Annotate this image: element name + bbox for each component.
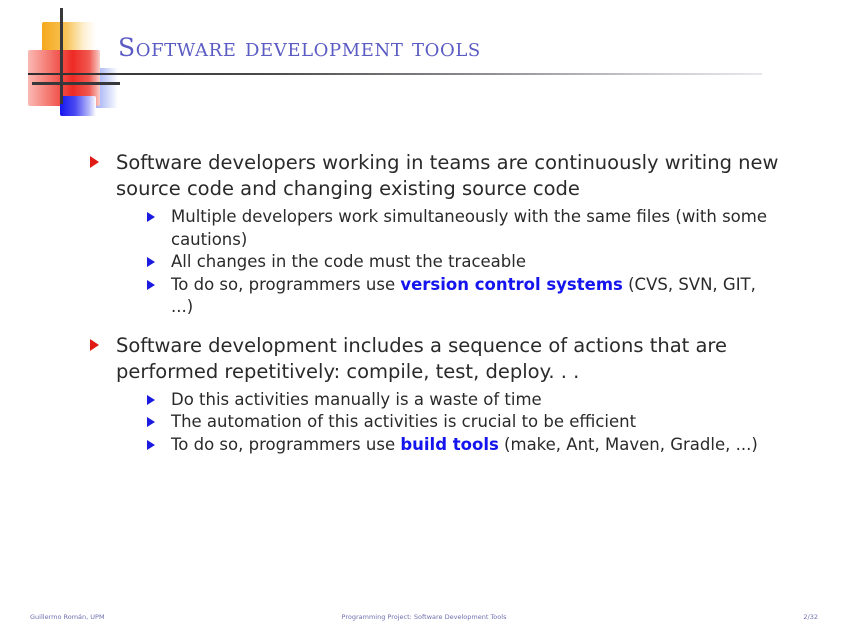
highlight-term: version control systems [400,275,623,294]
triangle-bullet-icon [90,339,99,351]
triangle-bullet-icon [147,395,155,405]
footer-page-number: 2/32 [803,613,818,621]
bullet-item-level2: Do this activities manually is a waste o… [0,389,848,412]
bullet-text: Software development includes a sequence… [116,334,727,383]
triangle-bullet-icon [147,417,155,427]
content-block: Software development includes a sequence… [0,333,848,457]
triangle-bullet-icon [90,156,99,168]
block-spacer [0,319,848,333]
bullet-text: All changes in the code must the traceab… [171,252,526,271]
sub-bullet-list: Multiple developers work simultaneously … [0,206,848,319]
bullet-text: To do so, programmers use [171,435,400,454]
page-title: Software development tools [118,33,481,62]
bullet-text: Do this activities manually is a waste o… [171,390,542,409]
highlight-term: build tools [400,435,498,454]
title-divider [28,73,762,75]
bullet-text: The automation of this activities is cru… [171,412,636,431]
bullet-item-level1: Software developers working in teams are… [0,150,848,202]
bullet-text: Multiple developers work simultaneously … [171,207,767,249]
bullet-text: To do so, programmers use [171,275,400,294]
logo-square-blue [60,96,96,116]
bullet-item-level2: To do so, programmers use build tools (m… [0,434,848,457]
bullet-item-level2: Multiple developers work simultaneously … [0,206,848,251]
triangle-bullet-icon [147,257,155,267]
slide-body: Software developers working in teams are… [0,150,848,456]
sub-bullet-list: Do this activities manually is a waste o… [0,389,848,457]
triangle-bullet-icon [147,440,155,450]
bullet-item-level2: The automation of this activities is cru… [0,411,848,434]
bullet-item-level2: To do so, programmers use version contro… [0,274,848,319]
bullet-text: Software developers working in teams are… [116,151,778,200]
bullet-item-level1: Software development includes a sequence… [0,333,848,385]
footer-subject: Programming Project: Software Developmen… [0,613,848,621]
bullet-text-tail: (make, Ant, Maven, Gradle, ...) [499,435,758,454]
logo-cross-horizontal [32,82,120,85]
upm-gradient-squares-logo [26,12,118,112]
logo-cross-vertical [60,8,63,104]
bullet-item-level2: All changes in the code must the traceab… [0,251,848,274]
triangle-bullet-icon [147,212,155,222]
triangle-bullet-icon [147,280,155,290]
content-block: Software developers working in teams are… [0,150,848,319]
slide-header: Software development tools [0,0,848,120]
slide-footer: Guillermo Román, UPM Programming Project… [0,611,848,625]
